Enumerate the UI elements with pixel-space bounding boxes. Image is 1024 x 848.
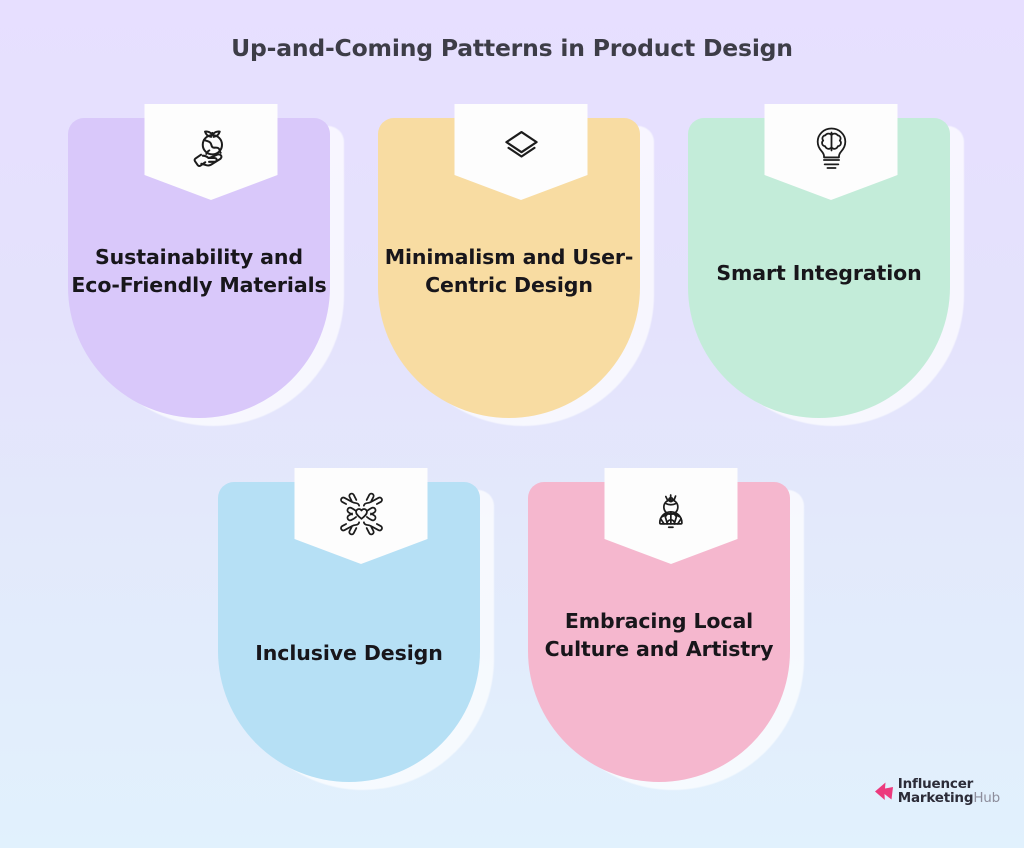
card-label: Smart Integration [688, 260, 950, 288]
pink-arrow-mark-icon [874, 780, 894, 802]
logo-wordmark: Influencer MarketingHub [898, 777, 1000, 806]
card-row-top: Sustainability and Eco-Friendly Material… [56, 104, 986, 444]
logo-marketing-text: Marketing [898, 790, 974, 806]
logo-line-marketinghub: MarketingHub [898, 791, 1000, 806]
brain-lightbulb-icon [805, 122, 857, 174]
geisha-fan-icon [645, 486, 697, 538]
four-hands-heart-icon [333, 486, 389, 542]
card-inclusive-design[interactable]: Inclusive Design [206, 468, 516, 808]
card-label: Embracing Local Culture and Artistry [528, 608, 790, 663]
card-label: Sustainability and Eco-Friendly Material… [68, 244, 330, 299]
card-label: Inclusive Design [218, 640, 480, 668]
card-local-culture[interactable]: Embracing Local Culture and Artistry [516, 468, 826, 808]
card-minimalism[interactable]: Minimalism and User-Centric Design [366, 104, 676, 444]
card-smart-integration[interactable]: Smart Integration [676, 104, 986, 444]
hand-holding-globe-plant-icon [183, 122, 239, 178]
card-label: Minimalism and User-Centric Design [378, 244, 640, 299]
infographic-canvas: Up-and-Coming Patterns in Product Design [0, 0, 1024, 848]
logo-hub-text: Hub [973, 790, 1000, 806]
page-title: Up-and-Coming Patterns in Product Design [0, 34, 1024, 62]
influencer-marketing-hub-logo[interactable]: Influencer MarketingHub [874, 777, 1000, 806]
card-sustainability[interactable]: Sustainability and Eco-Friendly Material… [56, 104, 366, 444]
logo-line-influencer: Influencer [898, 777, 1000, 792]
layers-stack-icon [498, 122, 544, 168]
card-row-bottom: Inclusive Design [206, 468, 826, 808]
